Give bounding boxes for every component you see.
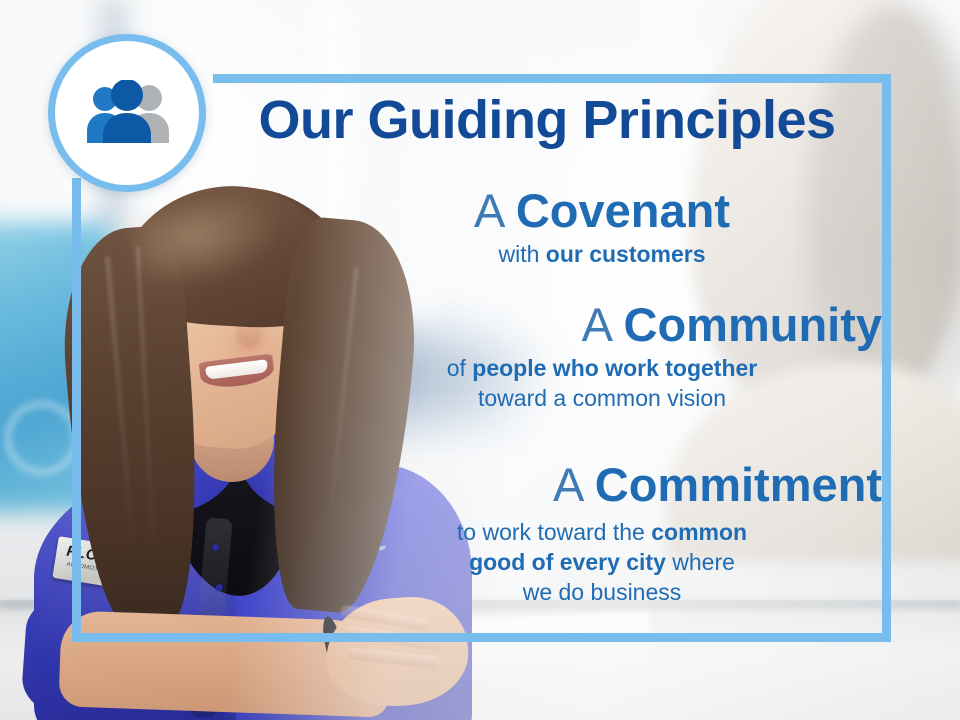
community-sub-bold: people who work together [472, 355, 757, 381]
principle-covenant-keyword: Covenant [516, 184, 730, 237]
principle-community-title: A Community [322, 300, 882, 350]
commitment-sub-bold-2: good of every city [469, 549, 666, 575]
principle-commitment-lead: A [553, 458, 582, 511]
principle-community-subtitle: of people who work together toward a com… [322, 354, 882, 414]
guiding-principles-poster: FLOW FLOW AUTOMOTIVE [0, 0, 960, 720]
principle-covenant: A Covenant with our customers [322, 186, 882, 270]
principle-community: A Community of people who work together … [322, 300, 882, 414]
commitment-sub-plain-2: where [666, 549, 735, 575]
principle-community-lead: A [582, 298, 611, 351]
poster-text-content: Our Guiding Principles A Covenant with o… [0, 0, 960, 720]
covenant-sub-bold: our customers [546, 241, 706, 267]
principle-commitment-subtitle: to work toward the common good of every … [322, 518, 882, 608]
principle-covenant-lead: A [474, 184, 503, 237]
principle-commitment-keyword: Commitment [595, 458, 882, 511]
community-sub-line2: toward a common vision [478, 385, 726, 411]
principle-community-keyword: Community [624, 298, 883, 351]
principle-commitment-title: A Commitment [322, 460, 882, 510]
commitment-sub-bold-1: common [651, 519, 747, 545]
commitment-sub-plain-1: to work toward the [457, 519, 651, 545]
commitment-sub-line3: we do business [523, 579, 682, 605]
principle-covenant-title: A Covenant [322, 186, 882, 236]
page-title: Our Guiding Principles [213, 92, 881, 149]
community-sub-plain: of [447, 355, 473, 381]
principle-commitment: A Commitment to work toward the common g… [322, 460, 882, 607]
covenant-sub-plain: with [498, 241, 545, 267]
principle-covenant-subtitle: with our customers [322, 240, 882, 270]
